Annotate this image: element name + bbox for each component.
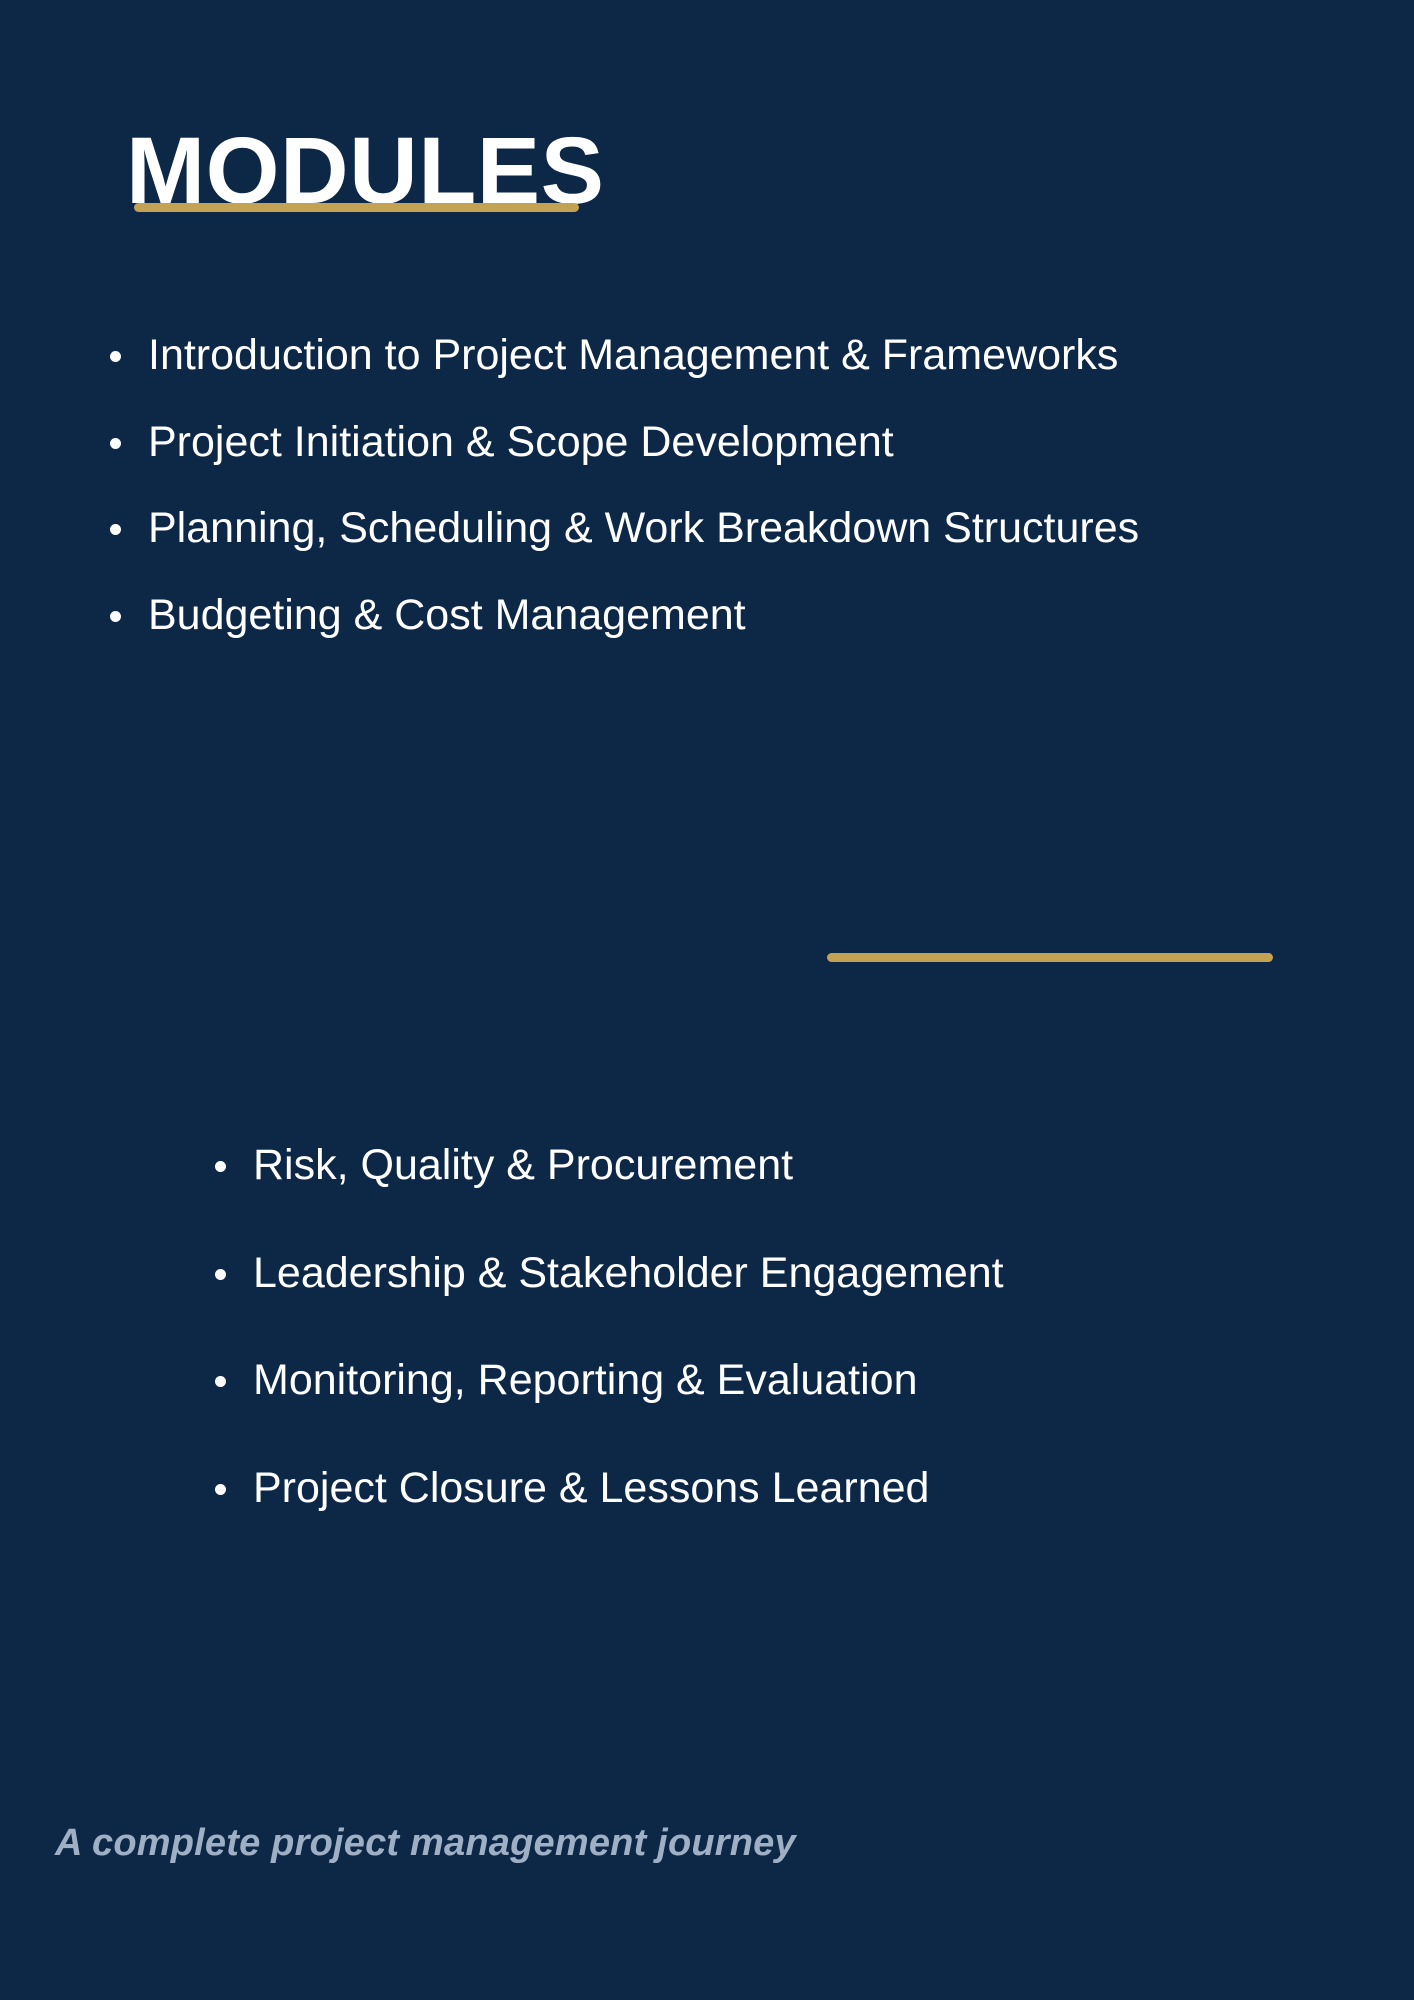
slide-canvas: MODULES Introduction to Project Manageme… — [0, 0, 1414, 2000]
module-label: Risk, Quality & Procurement — [253, 1140, 1325, 1191]
list-item: Leadership & Stakeholder Engagement — [205, 1248, 1325, 1299]
gold-divider-middle — [827, 953, 1273, 962]
list-item: Project Initiation & Scope Development — [100, 417, 1280, 468]
list-item: Project Closure & Lessons Learned — [205, 1463, 1325, 1514]
list-item: Risk, Quality & Procurement — [205, 1140, 1325, 1191]
module-label: Project Initiation & Scope Development — [148, 417, 1280, 468]
list-item: Budgeting & Cost Management — [100, 590, 1280, 641]
bullet-dot-icon — [215, 1269, 226, 1280]
bullet-dot-icon — [110, 524, 121, 535]
modules-list-primary: Introduction to Project Management & Fra… — [100, 330, 1280, 641]
module-label: Project Closure & Lessons Learned — [253, 1463, 1325, 1514]
bullet-dot-icon — [215, 1484, 226, 1495]
module-label: Monitoring, Reporting & Evaluation — [253, 1355, 1325, 1406]
list-item: Introduction to Project Management & Fra… — [100, 330, 1280, 381]
module-label: Budgeting & Cost Management — [148, 590, 1280, 641]
list-item: Monitoring, Reporting & Evaluation — [205, 1355, 1325, 1406]
modules-list-secondary: Risk, Quality & Procurement Leadership &… — [205, 1140, 1325, 1514]
module-label: Introduction to Project Management & Fra… — [148, 330, 1280, 381]
bullet-dot-icon — [215, 1161, 226, 1172]
footer-tagline: A complete project management journey — [55, 1822, 796, 1865]
bullet-dot-icon — [110, 438, 121, 449]
module-label: Leadership & Stakeholder Engagement — [253, 1248, 1325, 1299]
bullet-dot-icon — [215, 1376, 226, 1387]
gold-divider-top — [134, 203, 579, 212]
module-label: Planning, Scheduling & Work Breakdown St… — [148, 503, 1280, 554]
bullet-dot-icon — [110, 351, 121, 362]
list-item: Planning, Scheduling & Work Breakdown St… — [100, 503, 1280, 554]
bullet-dot-icon — [110, 611, 121, 622]
